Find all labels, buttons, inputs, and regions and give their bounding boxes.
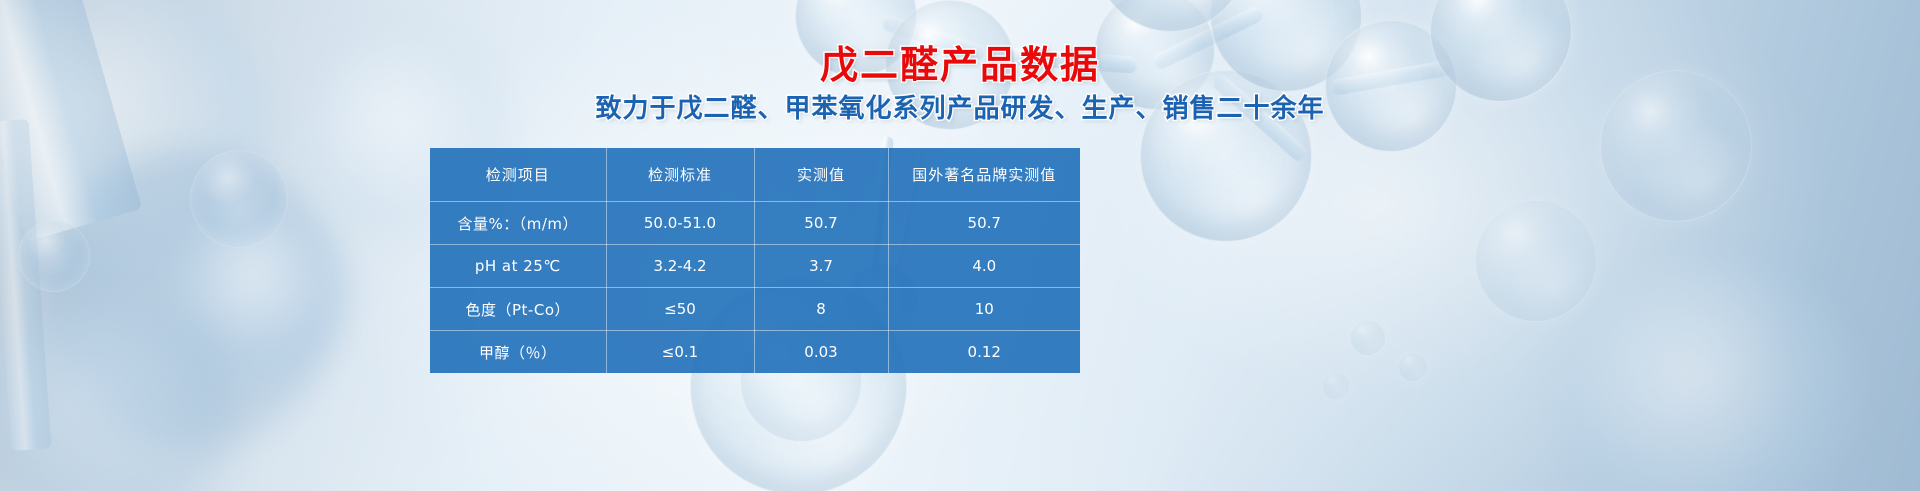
- cell-foreign-brand-value: 10: [888, 288, 1080, 331]
- cell-test-item: 色度（Pt-Co）: [430, 288, 606, 331]
- table-row: 甲醇（％） ≤0.1 0.03 0.12: [430, 331, 1080, 374]
- cell-measured-value: 3.7: [754, 245, 888, 288]
- bubble-left-small-1: [18, 220, 90, 292]
- product-data-banner: 戊二醛产品数据 致力于戊二醛、甲苯氧化系列产品研发、生产、销售二十余年 检测项目…: [0, 0, 1920, 491]
- cell-test-standard: 50.0-51.0: [606, 202, 754, 245]
- cell-foreign-brand-value: 0.12: [888, 331, 1080, 374]
- page-subtitle: 致力于戊二醛、甲苯氧化系列产品研发、生产、销售二十余年: [0, 95, 1920, 124]
- product-data-table: 检测项目 检测标准 实测值 国外著名品牌实测值 含量%：（m/m） 50.0-5…: [430, 148, 1080, 373]
- headline-block: 戊二醛产品数据 致力于戊二醛、甲苯氧化系列产品研发、生产、销售二十余年: [0, 46, 1920, 123]
- molecule-atom-small-2: [1398, 352, 1428, 382]
- molecule-atom-small-3: [1322, 372, 1350, 400]
- cell-foreign-brand-value: 4.0: [888, 245, 1080, 288]
- bubble-left-small-2: [190, 150, 288, 248]
- cell-test-item: pH at 25℃: [430, 245, 606, 288]
- page-title: 戊二醛产品数据: [0, 46, 1920, 86]
- cell-test-item: 含量%：（m/m）: [430, 202, 606, 245]
- table-header-row: 检测项目 检测标准 实测值 国外著名品牌实测值: [430, 148, 1080, 202]
- product-data-table-container: 检测项目 检测标准 实测值 国外著名品牌实测值 含量%：（m/m） 50.0-5…: [430, 148, 1080, 373]
- column-header-test-item: 检测项目: [430, 148, 606, 202]
- cell-measured-value: 0.03: [754, 331, 888, 374]
- cell-foreign-brand-value: 50.7: [888, 202, 1080, 245]
- table-row: pH at 25℃ 3.2-4.2 3.7 4.0: [430, 245, 1080, 288]
- molecule-atom-small-1: [1350, 320, 1386, 356]
- cell-measured-value: 8: [754, 288, 888, 331]
- table-row: 色度（Pt-Co） ≤50 8 10: [430, 288, 1080, 331]
- cell-test-standard: 3.2-4.2: [606, 245, 754, 288]
- column-header-test-standard: 检测标准: [606, 148, 754, 202]
- cell-test-standard: ≤0.1: [606, 331, 754, 374]
- column-header-foreign-brand: 国外著名品牌实测值: [888, 148, 1080, 202]
- cell-test-standard: ≤50: [606, 288, 754, 331]
- cell-test-item: 甲醇（％）: [430, 331, 606, 374]
- column-header-measured-value: 实测值: [754, 148, 888, 202]
- molecule-atom-10: [1475, 200, 1597, 322]
- cell-measured-value: 50.7: [754, 202, 888, 245]
- table-row: 含量%：（m/m） 50.0-51.0 50.7 50.7: [430, 202, 1080, 245]
